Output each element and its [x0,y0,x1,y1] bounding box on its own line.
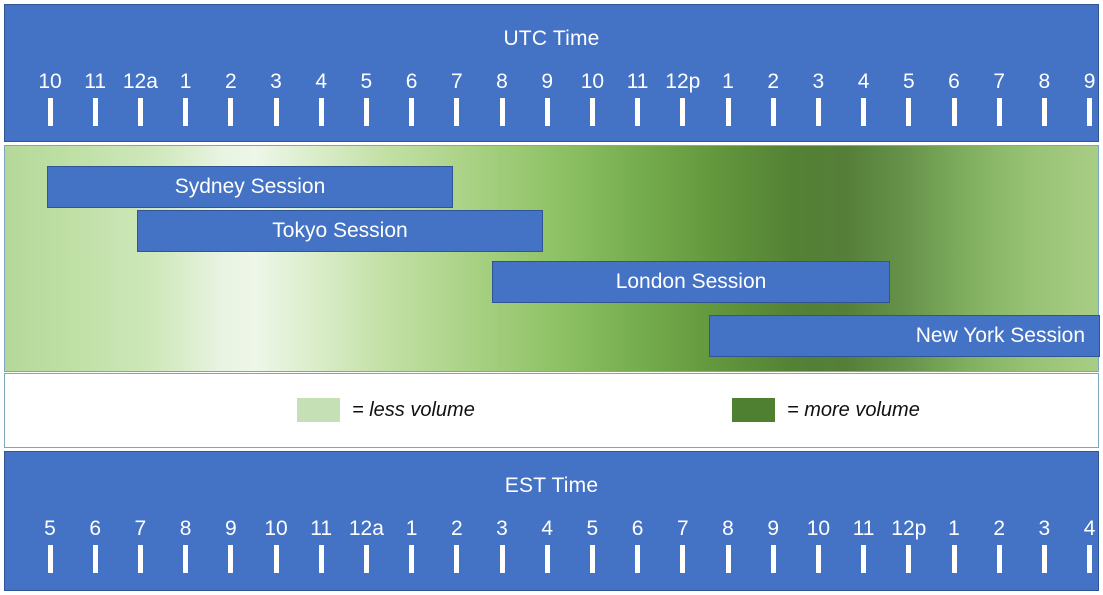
legend-label: = less volume [352,399,475,422]
est-tick-mark [228,545,233,573]
utc-time-title: UTC Time [5,27,1098,51]
sessions-volume-band: Sydney SessionTokyo SessionLondon Sessio… [4,145,1099,372]
est-tick-mark [906,545,911,573]
est-time-header: EST Time 56789101112a123456789101112p123… [4,451,1099,591]
utc-tick-23: 9 [1060,69,1103,126]
est-tick-mark [1042,545,1047,573]
utc-tick-mark [48,98,53,126]
session-bar-label: London Session [606,270,777,294]
legend-label: = more volume [787,399,920,422]
utc-tick-mark [545,98,550,126]
est-tick-mark [997,545,1002,573]
est-tick-mark [726,545,731,573]
utc-tick-mark [409,98,414,126]
est-tick-mark [1087,545,1092,573]
utc-time-header: UTC Time 101112a123456789101112p12345678… [4,4,1099,142]
est-tick-mark [409,545,414,573]
volume-legend: = less volume= more volume [4,373,1099,448]
est-tick-23: 4 [1060,516,1103,573]
utc-tick-mark [952,98,957,126]
utc-tick-mark [228,98,233,126]
est-time-title: EST Time [5,474,1098,498]
est-tick-mark [274,545,279,573]
legend-item-less-volume: = less volume [297,398,475,422]
legend-swatch-less-volume [297,398,340,422]
session-bar-sydney-session[interactable]: Sydney Session [47,166,453,208]
utc-tick-mark [906,98,911,126]
utc-tick-mark [861,98,866,126]
est-tick-mark [816,545,821,573]
est-tick-mark [545,545,550,573]
est-tick-mark [680,545,685,573]
session-bar-tokyo-session[interactable]: Tokyo Session [137,210,543,252]
est-tick-mark [138,545,143,573]
utc-tick-mark [816,98,821,126]
est-tick-mark [635,545,640,573]
session-bar-new-york-session[interactable]: New York Session [709,315,1100,357]
legend-item-more-volume: = more volume [732,398,920,422]
est-tick-label: 4 [1060,516,1103,542]
utc-tick-label: 9 [1060,69,1103,95]
forex-sessions-chart: UTC Time 101112a123456789101112p12345678… [0,0,1103,595]
est-tick-mark [183,545,188,573]
est-tick-mark [771,545,776,573]
utc-tick-mark [1087,98,1092,126]
utc-tick-mark [319,98,324,126]
utc-tick-mark [1042,98,1047,126]
utc-tick-mark [680,98,685,126]
est-tick-mark [93,545,98,573]
est-tick-mark [48,545,53,573]
legend-swatch-more-volume [732,398,775,422]
utc-tick-mark [726,98,731,126]
session-bar-label: New York Session [906,324,1099,348]
est-tick-mark [952,545,957,573]
utc-tick-mark [997,98,1002,126]
utc-tick-mark [93,98,98,126]
utc-tick-mark [138,98,143,126]
session-bar-london-session[interactable]: London Session [492,261,890,303]
est-tick-mark [590,545,595,573]
session-bar-label: Sydney Session [165,175,336,199]
utc-tick-mark [274,98,279,126]
est-tick-mark [319,545,324,573]
utc-tick-mark [590,98,595,126]
est-tick-mark [454,545,459,573]
utc-tick-mark [454,98,459,126]
utc-tick-mark [635,98,640,126]
utc-tick-mark [183,98,188,126]
est-tick-mark [364,545,369,573]
est-tick-mark [500,545,505,573]
est-tick-mark [861,545,866,573]
session-bar-label: Tokyo Session [262,219,417,243]
utc-tick-mark [771,98,776,126]
utc-tick-mark [500,98,505,126]
utc-tick-mark [364,98,369,126]
